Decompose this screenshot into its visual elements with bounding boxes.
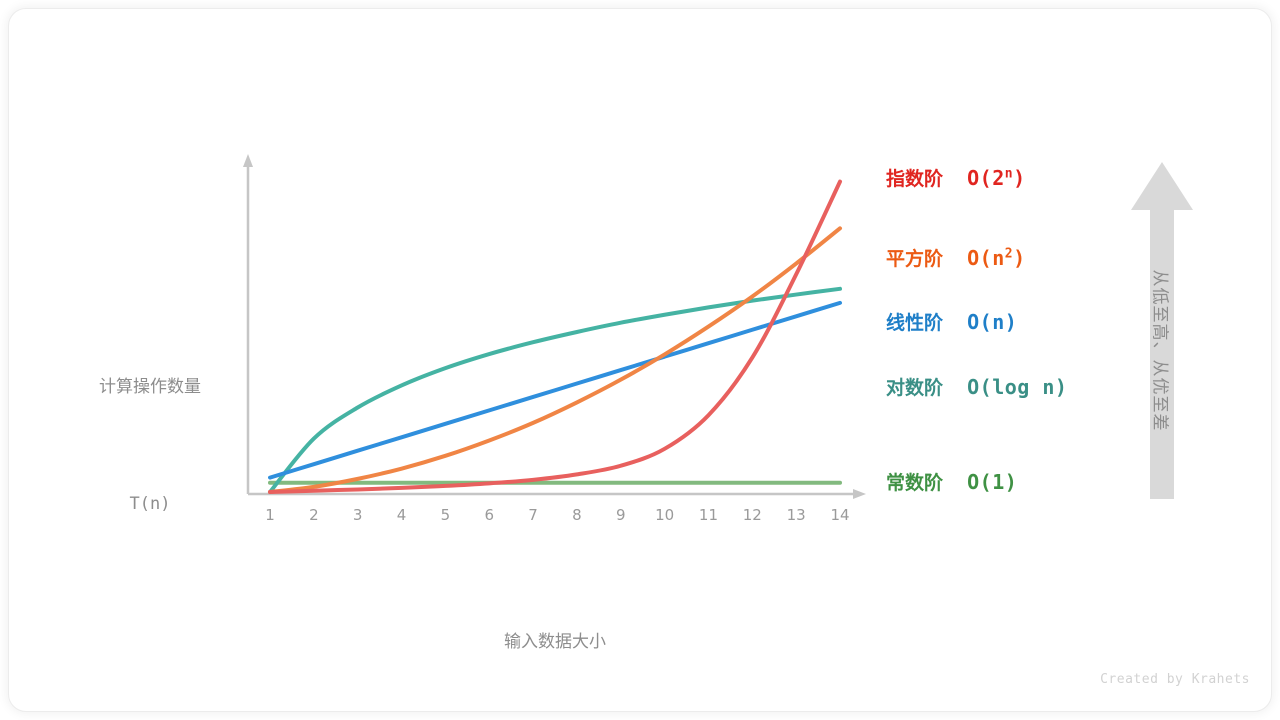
legend-item-notation: O(log n) (967, 375, 1067, 399)
x-axis-tick-label: 9 (606, 506, 636, 524)
legend-item-notation: O(2n) (967, 166, 1026, 190)
legend-item-notation: O(n) (967, 310, 1017, 334)
y-axis-arrow-icon (243, 154, 253, 167)
ranking-arrow-icon (1129, 158, 1195, 503)
legend-item-notation: O(n2) (967, 246, 1026, 270)
legend-item-name: 指数阶 (886, 168, 943, 190)
x-axis-tick-label: 11 (693, 506, 723, 524)
x-axis-tick-label: 10 (650, 506, 680, 524)
legend-item-notation-exponent: 2 (1005, 246, 1013, 261)
x-axis-tick-label: 5 (430, 506, 460, 524)
y-axis-title-line1: 计算操作数量 (40, 368, 260, 407)
legend-item-spacer (943, 166, 967, 190)
legend-item: 平方阶 O(n2) (886, 248, 1026, 269)
x-axis-arrow-icon (853, 489, 866, 499)
x-axis-tick-label: 12 (737, 506, 767, 524)
legend-item-notation: O(1) (967, 470, 1017, 494)
series-curves (270, 182, 840, 492)
legend-item-name: 平方阶 (886, 248, 943, 270)
complexity-legend: 指数阶 O(2n)平方阶 O(n2)线性阶 O(n)对数阶 O(log n)常数… (886, 150, 1156, 510)
y-axis-title-line2: T(n) (40, 485, 260, 524)
legend-item: 常数阶 O(1) (886, 472, 1017, 493)
legend-item-name: 对数阶 (886, 377, 943, 399)
legend-item-spacer (943, 470, 967, 494)
y-axis-title: 计算操作数量 T(n) (40, 290, 260, 602)
x-axis-tick-label: 8 (562, 506, 592, 524)
legend-item-name: 线性阶 (886, 312, 943, 334)
plot-area: 1234567891011121314 计算操作数量 T(n) 输入数据大小 n… (0, 0, 1280, 720)
legend-item-spacer (943, 310, 967, 334)
series-line (270, 303, 840, 478)
x-axis-tick-label: 7 (518, 506, 548, 524)
watermark: Created by Krahets (1070, 672, 1250, 687)
legend-item-notation-exponent: n (1005, 166, 1013, 181)
x-axis-tick-label: 4 (387, 506, 417, 524)
x-axis-tick-label: 14 (825, 506, 855, 524)
legend-item: 指数阶 O(2n) (886, 168, 1026, 189)
x-axis-tick-label: 6 (474, 506, 504, 524)
figure-root: 1234567891011121314 计算操作数量 T(n) 输入数据大小 n… (0, 0, 1280, 720)
x-axis-tick-label: 13 (781, 506, 811, 524)
x-axis-tick-label: 2 (299, 506, 329, 524)
x-axis-title: 输入数据大小 n (435, 545, 675, 720)
legend-item: 线性阶 O(n) (886, 312, 1017, 333)
x-axis-title-line1: 输入数据大小 (435, 623, 675, 662)
legend-item-name: 常数阶 (886, 472, 943, 494)
axis-lines (243, 154, 866, 499)
legend-item-spacer (943, 246, 967, 270)
legend-item-spacer (943, 375, 967, 399)
x-axis-tick-label: 3 (343, 506, 373, 524)
legend-item: 对数阶 O(log n) (886, 377, 1067, 398)
